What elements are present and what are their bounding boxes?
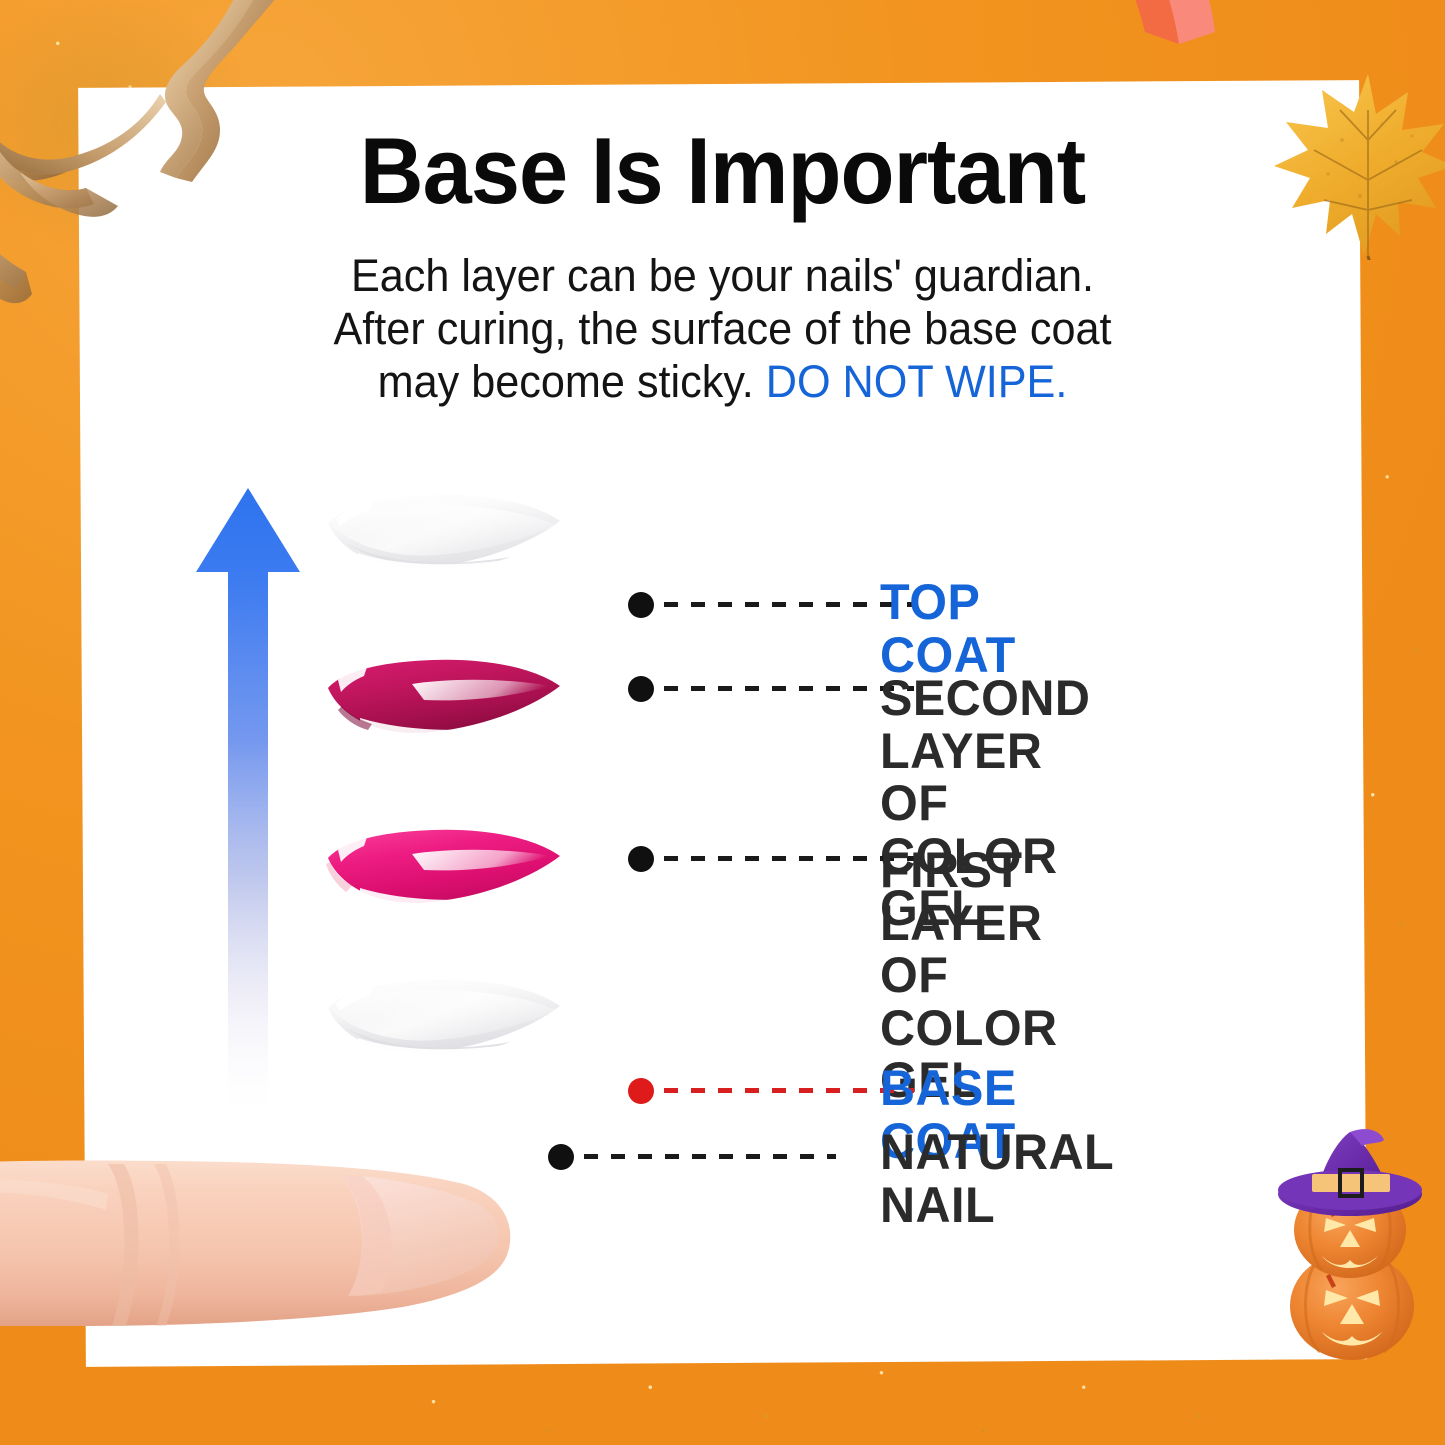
layer-label-natural-nail: NATURAL NAIL [880, 1126, 1113, 1231]
halloween-pumpkins-decoration-icon [1262, 1126, 1442, 1366]
fingertip-photo-icon [0, 1140, 548, 1370]
nail-swatch-base-coat [320, 964, 570, 1079]
nail-swatch-second-layer [320, 644, 570, 759]
subtitle-line-3-plain: may become sticky. [378, 356, 766, 407]
connector-dot-first-layer [628, 846, 654, 872]
connector-dot-second-layer [628, 676, 654, 702]
gold-ribbon-decoration-icon [0, 0, 330, 316]
nail-swatch-top-coat [320, 479, 570, 594]
connector-dot-base-coat [628, 1078, 654, 1104]
layer-order-arrow-icon [188, 484, 308, 1124]
leader-line-top-coat [664, 602, 914, 607]
leader-line-first-layer [664, 856, 914, 861]
leader-line-base-coat [664, 1088, 914, 1093]
subtitle-line-1: Each layer can be your nails' guardian. [351, 250, 1094, 301]
nail-swatch-first-layer [320, 814, 570, 929]
coral-ribbon-decoration-icon [1075, 0, 1265, 55]
subtitle-text: Each layer can be your nails' guardian. … [252, 249, 1194, 408]
layer-label-top-coat: TOP COAT [880, 576, 1016, 681]
leader-line-natural-nail [584, 1154, 836, 1159]
subtitle-line-2: After curing, the surface of the base co… [333, 303, 1111, 354]
maple-leaf-decoration-icon [1272, 70, 1445, 260]
leader-line-second-layer [664, 686, 914, 691]
connector-dot-natural-nail [548, 1144, 574, 1170]
connector-dot-top-coat [628, 592, 654, 618]
do-not-wipe-warning: DO NOT WIPE. [766, 356, 1068, 407]
